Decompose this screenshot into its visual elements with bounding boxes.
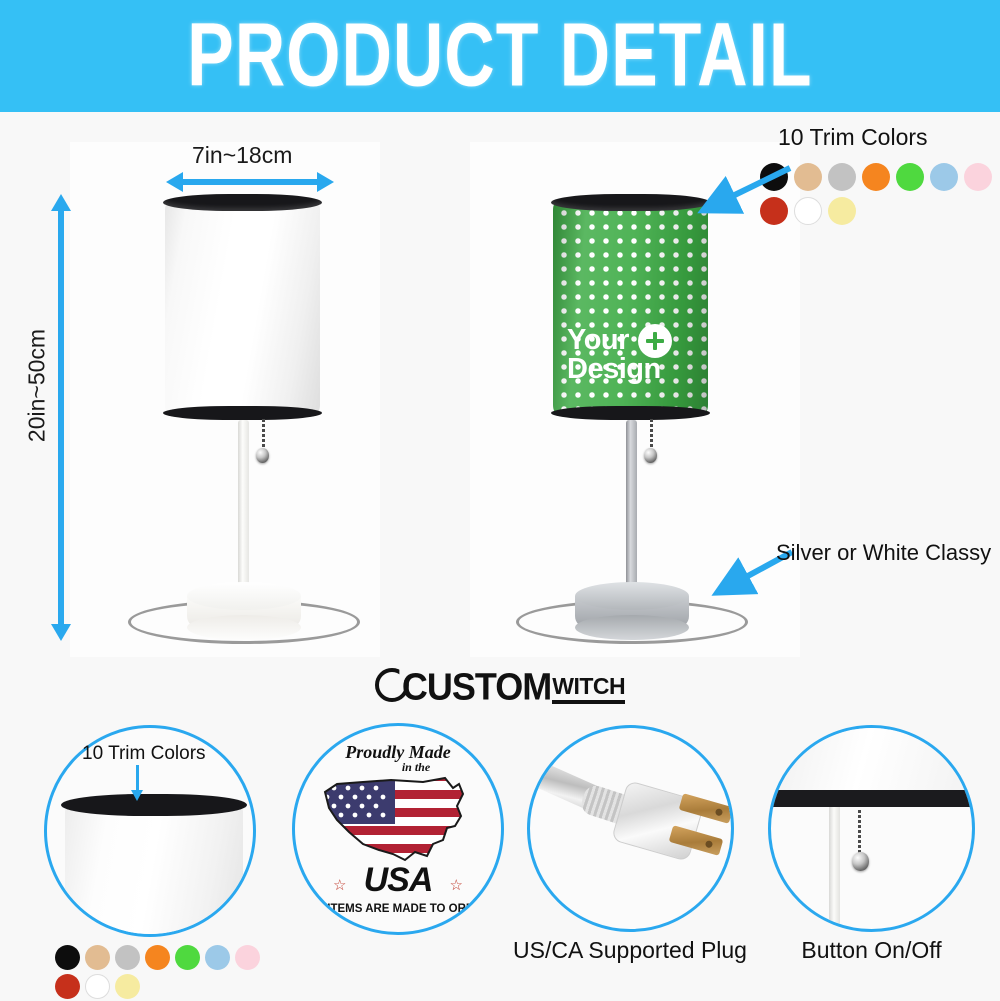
lamp-base-bottom xyxy=(187,615,301,640)
trim-colors-callout-label: 10 Trim Colors xyxy=(778,124,928,151)
trim-closeup-band xyxy=(61,794,247,816)
lamp-showcase: 7in~18cm 20in~50cm xyxy=(0,112,1000,657)
pull-chain-ball[interactable] xyxy=(256,448,269,463)
pull-chain-ball-green[interactable] xyxy=(644,448,657,463)
usa-flag-map-icon xyxy=(319,772,483,872)
swatch-orange-2[interactable] xyxy=(145,945,170,970)
feature-circle-plug xyxy=(527,725,734,932)
base-material-callout-label: Silver or White Classy xyxy=(776,540,991,566)
lamp-pole-silver xyxy=(626,420,637,605)
trim-down-arrow-icon xyxy=(136,765,139,791)
swatch-gray-2[interactable] xyxy=(115,945,140,970)
swatch-pink[interactable] xyxy=(964,163,992,191)
swatch-light-blue[interactable] xyxy=(930,163,958,191)
lamp-trim-bottom xyxy=(163,406,322,420)
feature-switch-label: Button On/Off xyxy=(768,937,975,964)
switch-pole xyxy=(829,807,840,932)
page-header-banner: PRODUCT DETAIL xyxy=(0,0,1000,112)
plug-body xyxy=(611,780,705,862)
swatch-orange[interactable] xyxy=(862,163,890,191)
design-text-line1: Your xyxy=(567,326,629,354)
usa-badge-small: ALL ITEMS ARE MADE TO ORDER! xyxy=(295,903,501,915)
lamp-base-top xyxy=(187,582,301,610)
trim-colors-pointer-arrow xyxy=(690,162,800,222)
lamp-shade-custom: Your Design xyxy=(553,200,708,415)
switch-pull-chain[interactable] xyxy=(858,810,861,856)
swatch-white-2[interactable] xyxy=(85,974,110,999)
swatch-pink-2[interactable] xyxy=(235,945,260,970)
usa-badge-big: USA xyxy=(295,861,501,900)
lamp-base-top-silver xyxy=(575,582,689,610)
feature-highlights: 10 Trim Colors Proudly Made in the xyxy=(0,715,1000,1000)
brand-name-bold: CUSTOM xyxy=(402,669,551,705)
switch-pull-chain-ball[interactable] xyxy=(852,852,869,871)
feature-trim-title: 10 Trim Colors xyxy=(82,743,206,765)
swatch-yellow-2[interactable] xyxy=(115,974,140,999)
page-title: PRODUCT DETAIL xyxy=(187,11,812,101)
lamp-base-bottom-silver xyxy=(575,615,689,640)
shade-closeup xyxy=(65,804,243,937)
brand-underline xyxy=(552,700,625,704)
pull-chain-green[interactable] xyxy=(650,419,653,451)
lamp-trim-top xyxy=(163,194,322,211)
swatch-tan-2[interactable] xyxy=(85,945,110,970)
swatch-gray[interactable] xyxy=(828,163,856,191)
feature-plug-label: US/CA Supported Plug xyxy=(500,937,760,964)
lamp-trim-bottom-green xyxy=(551,406,710,420)
brand-logo: CUSTOM WITCH xyxy=(0,657,1000,715)
trim-colors-swatch-row-bottom xyxy=(55,943,270,1001)
swatch-green[interactable] xyxy=(896,163,924,191)
swatch-green-2[interactable] xyxy=(175,945,200,970)
lamp-pole xyxy=(238,420,249,605)
feature-circle-usa: Proudly Made in the xyxy=(292,723,504,935)
usa-badge: Proudly Made in the xyxy=(295,726,501,932)
plus-circle-icon xyxy=(638,324,672,358)
width-dimension-label: 7in~18cm xyxy=(192,142,292,169)
pull-chain[interactable] xyxy=(262,419,265,451)
lamp-trim-top-green xyxy=(551,194,710,211)
height-dimension-label: 20in~50cm xyxy=(24,316,51,456)
feature-circle-switch xyxy=(768,725,975,932)
lamp-shade-blank xyxy=(165,200,320,415)
lamp-shade-surface xyxy=(165,200,320,415)
switch-shade-closeup xyxy=(768,725,975,798)
width-dimension-arrow xyxy=(182,179,318,185)
swatch-black-2[interactable] xyxy=(55,945,80,970)
switch-trim-band xyxy=(768,790,975,807)
swatch-light-blue-2[interactable] xyxy=(205,945,230,970)
design-text-line2: Design xyxy=(567,355,661,383)
swatch-yellow[interactable] xyxy=(828,197,856,225)
swatch-red-2[interactable] xyxy=(55,974,80,999)
product-detail-page: PRODUCT DETAIL 7in~18cm 20in~50cm xyxy=(0,0,1000,1000)
brand-name-light: WITCH xyxy=(552,676,625,698)
height-dimension-arrow xyxy=(58,210,64,625)
